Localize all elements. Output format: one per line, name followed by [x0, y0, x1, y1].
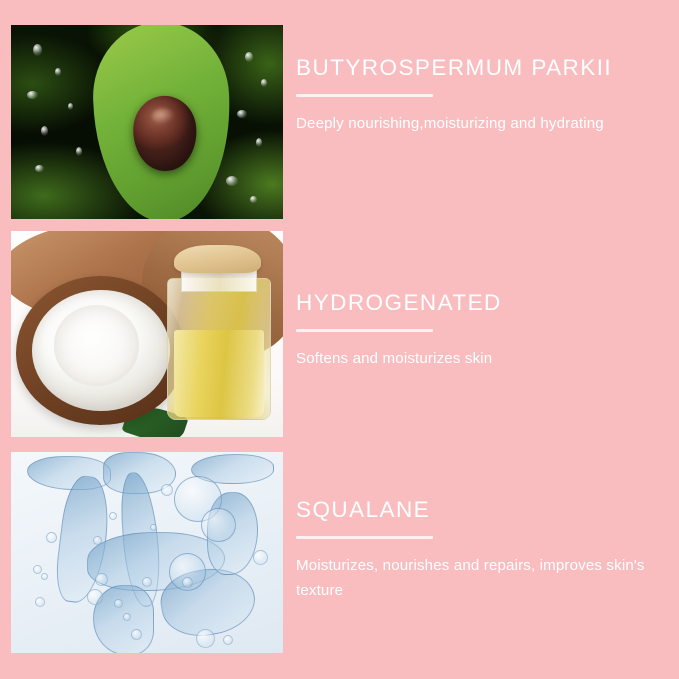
ingredient-text-squalane: SQUALANE Moisturizes, nourishes and repa… — [296, 498, 671, 604]
ingredient-image-butyrospermum-parkii — [11, 25, 283, 219]
avocado-half — [95, 27, 229, 218]
oil-jar — [163, 245, 272, 418]
ingredient-benefits-panel: BUTYROSPERMUM PARKII Deeply nourishing,m… — [0, 0, 679, 679]
squalane-gel-photo — [11, 452, 283, 653]
ingredient-heading: BUTYROSPERMUM PARKII — [296, 56, 671, 81]
ingredient-image-squalane — [11, 452, 283, 653]
ingredient-text-hydrogenated: HYDROGENATED Softens and moisturizes ski… — [296, 291, 671, 372]
ingredient-heading: HYDROGENATED — [296, 291, 671, 316]
ingredient-text-butyrospermum-parkii: BUTYROSPERMUM PARKII Deeply nourishing,m… — [296, 56, 671, 137]
coconut-half — [16, 276, 185, 424]
avocado-photo — [11, 25, 283, 219]
heading-divider — [296, 329, 433, 332]
ingredient-description: Deeply nourishing,moisturizing and hydra… — [296, 112, 671, 137]
jar-cork-lid — [174, 245, 261, 273]
heading-divider — [296, 94, 433, 97]
ingredient-description: Moisturizes, nourishes and repairs, impr… — [296, 554, 671, 604]
heading-divider — [296, 536, 433, 539]
ingredient-description: Softens and moisturizes skin — [296, 347, 671, 372]
coconut-oil-photo — [11, 231, 283, 437]
ingredient-heading: SQUALANE — [296, 498, 671, 523]
ingredient-image-hydrogenated — [11, 231, 283, 437]
